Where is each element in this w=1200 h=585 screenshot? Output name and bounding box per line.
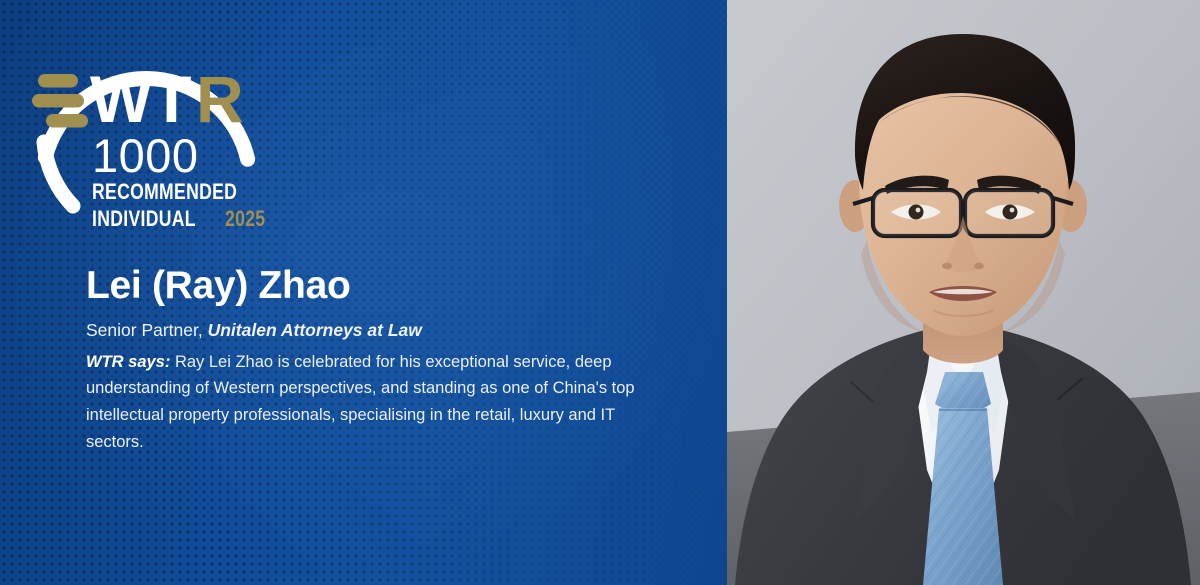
logo-wordmark-wt: WT <box>90 62 191 136</box>
wtr-says-label: WTR says: <box>86 353 170 371</box>
wtr-recommended-individual-banner: WT R 1000 RECOMMENDED INDIVIDUAL 2025 Le… <box>0 0 1200 585</box>
portrait-photo-lei-ray-zhao <box>727 0 1200 585</box>
wtr-says-quote: WTR says: Ray Lei Zhao is celebrated for… <box>86 349 652 456</box>
broken-circle-arc-lower-icon <box>44 142 73 206</box>
portrait-photo-panel <box>727 0 1200 585</box>
logo-edition-1000: 1000 <box>92 129 199 182</box>
wtr-logo-badge: WT R 1000 RECOMMENDED INDIVIDUAL 2025 <box>28 22 298 232</box>
page-title: Lei (Ray) Zhao <box>86 266 666 307</box>
profile-text-block: Lei (Ray) Zhao Senior Partner, Unitalen … <box>86 266 666 456</box>
profile-role-line: Senior Partner, Unitalen Attorneys at La… <box>86 319 666 342</box>
profile-firm: Unitalen Attorneys at Law <box>208 320 422 340</box>
three-gold-bars-icon <box>32 74 88 128</box>
profile-role: Senior Partner, <box>86 320 203 340</box>
logo-line-individual: INDIVIDUAL <box>92 207 196 231</box>
logo-year-2025: 2025 <box>225 207 265 231</box>
blue-content-panel: WT R 1000 RECOMMENDED INDIVIDUAL 2025 Le… <box>0 0 727 585</box>
logo-line-recommended: RECOMMENDED <box>92 180 237 204</box>
logo-wordmark-r: R <box>196 62 243 136</box>
